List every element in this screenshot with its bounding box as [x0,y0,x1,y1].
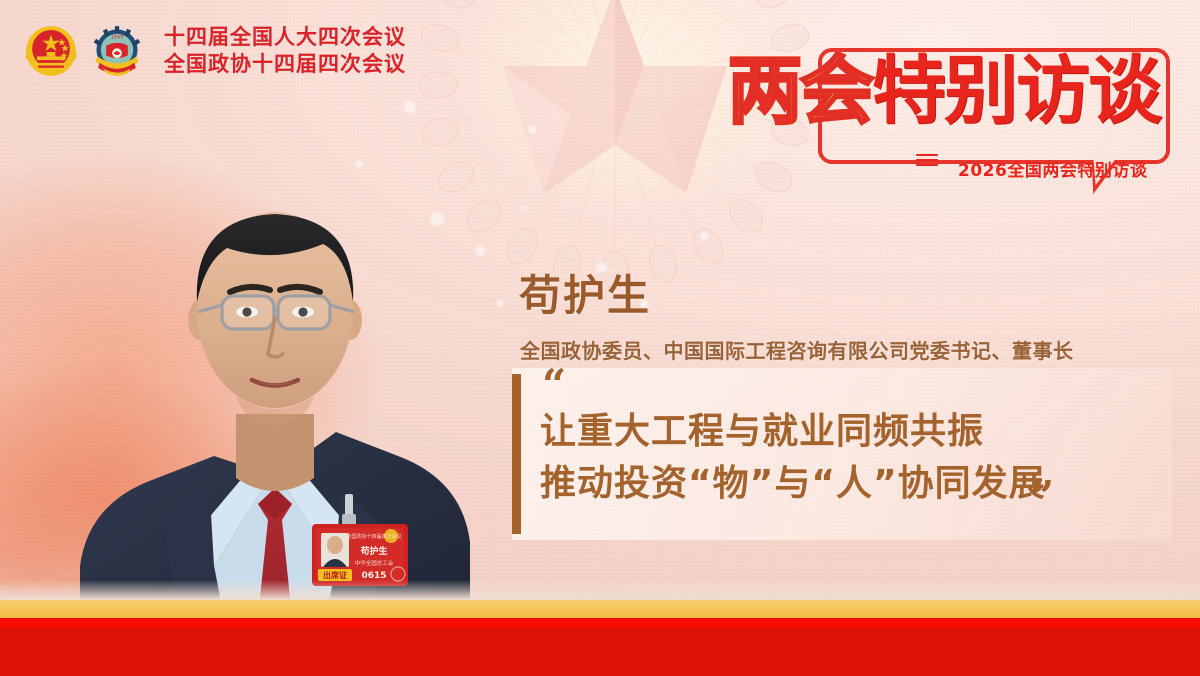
meeting-titles: 十四届全国人大四次会议 全国政协十四届四次会议 [164,24,406,78]
quote-accent-bar [512,374,521,534]
quote-line-2: 推动投资“物”与“人”协同发展 [540,466,1046,502]
svg-text:中华全国总工会: 中华全国总工会 [355,559,394,567]
program-logo-wordmark: 两会特别访谈 [728,54,1160,128]
quote-open-mark: “ [542,364,566,406]
svg-text:出席证: 出席证 [323,570,347,580]
quote-panel-background [512,368,1172,540]
quote-close-mark: ” [1030,476,1054,518]
bottom-band-gold [0,600,1200,620]
svg-text:全国政协十四届四次会议: 全国政协十四届四次会议 [346,533,401,540]
quote-line-1: 让重大工程与就业同频共振 [540,414,984,450]
svg-text:苟护生: 苟护生 [359,545,387,557]
svg-text:1949: 1949 [111,35,123,41]
header: 1949 十四届全国人大四次会议 全国政协十四届四次会议 [24,24,406,78]
bottom-band-paper [0,580,1200,600]
program-logo-red-text: 特别访谈 [872,48,1160,134]
interview-poster: 1949 十四届全国人大四次会议 全国政协十四届四次会议 两会特别访谈 2026… [0,0,1200,676]
guest-title: 全国政协委员、中国国际工程咨询有限公司党委书记、董事长 [520,335,1074,364]
program-logo: 两会特别访谈 2026全国两会特别访谈 [720,48,1172,196]
guest-name: 苟护生 [519,275,651,317]
quote-block: “ 让重大工程与就业同频共振 推动投资“物”与“人”协同发展 ” [512,368,1172,540]
meeting-title-line-2: 全国政协十四届四次会议 [164,51,406,78]
program-logo-gold-text: 两会 [728,48,872,134]
logo-bars-decoration [916,154,938,169]
meeting-title-line-1: 十四届全国人大四次会议 [164,24,406,51]
cppcc-emblem-icon: 1949 [90,24,144,78]
program-logo-subtitle: 2026全国两会特别访谈 [958,156,1147,181]
national-emblem-china-icon [24,24,78,78]
bottom-band-red [0,628,1200,676]
